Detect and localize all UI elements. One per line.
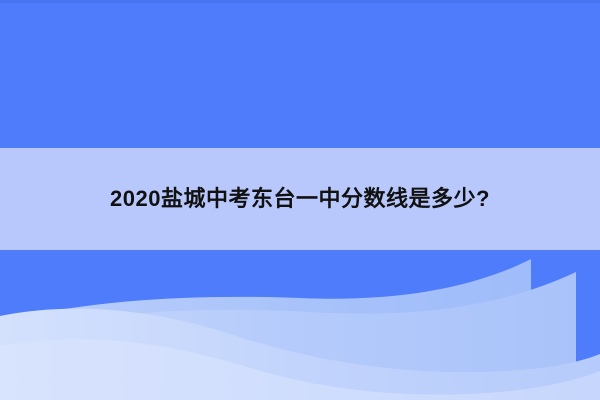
header-block xyxy=(0,0,600,148)
wave-block xyxy=(0,250,600,400)
wave-decoration-icon xyxy=(0,250,600,400)
banner-title: 2020盐城中考东台一中分数线是多少? xyxy=(110,188,490,210)
title-band: 2020盐城中考东台一中分数线是多少? xyxy=(0,148,600,250)
question-banner: 2020盐城中考东台一中分数线是多少? xyxy=(0,0,600,400)
header-top-edge xyxy=(0,0,600,3)
